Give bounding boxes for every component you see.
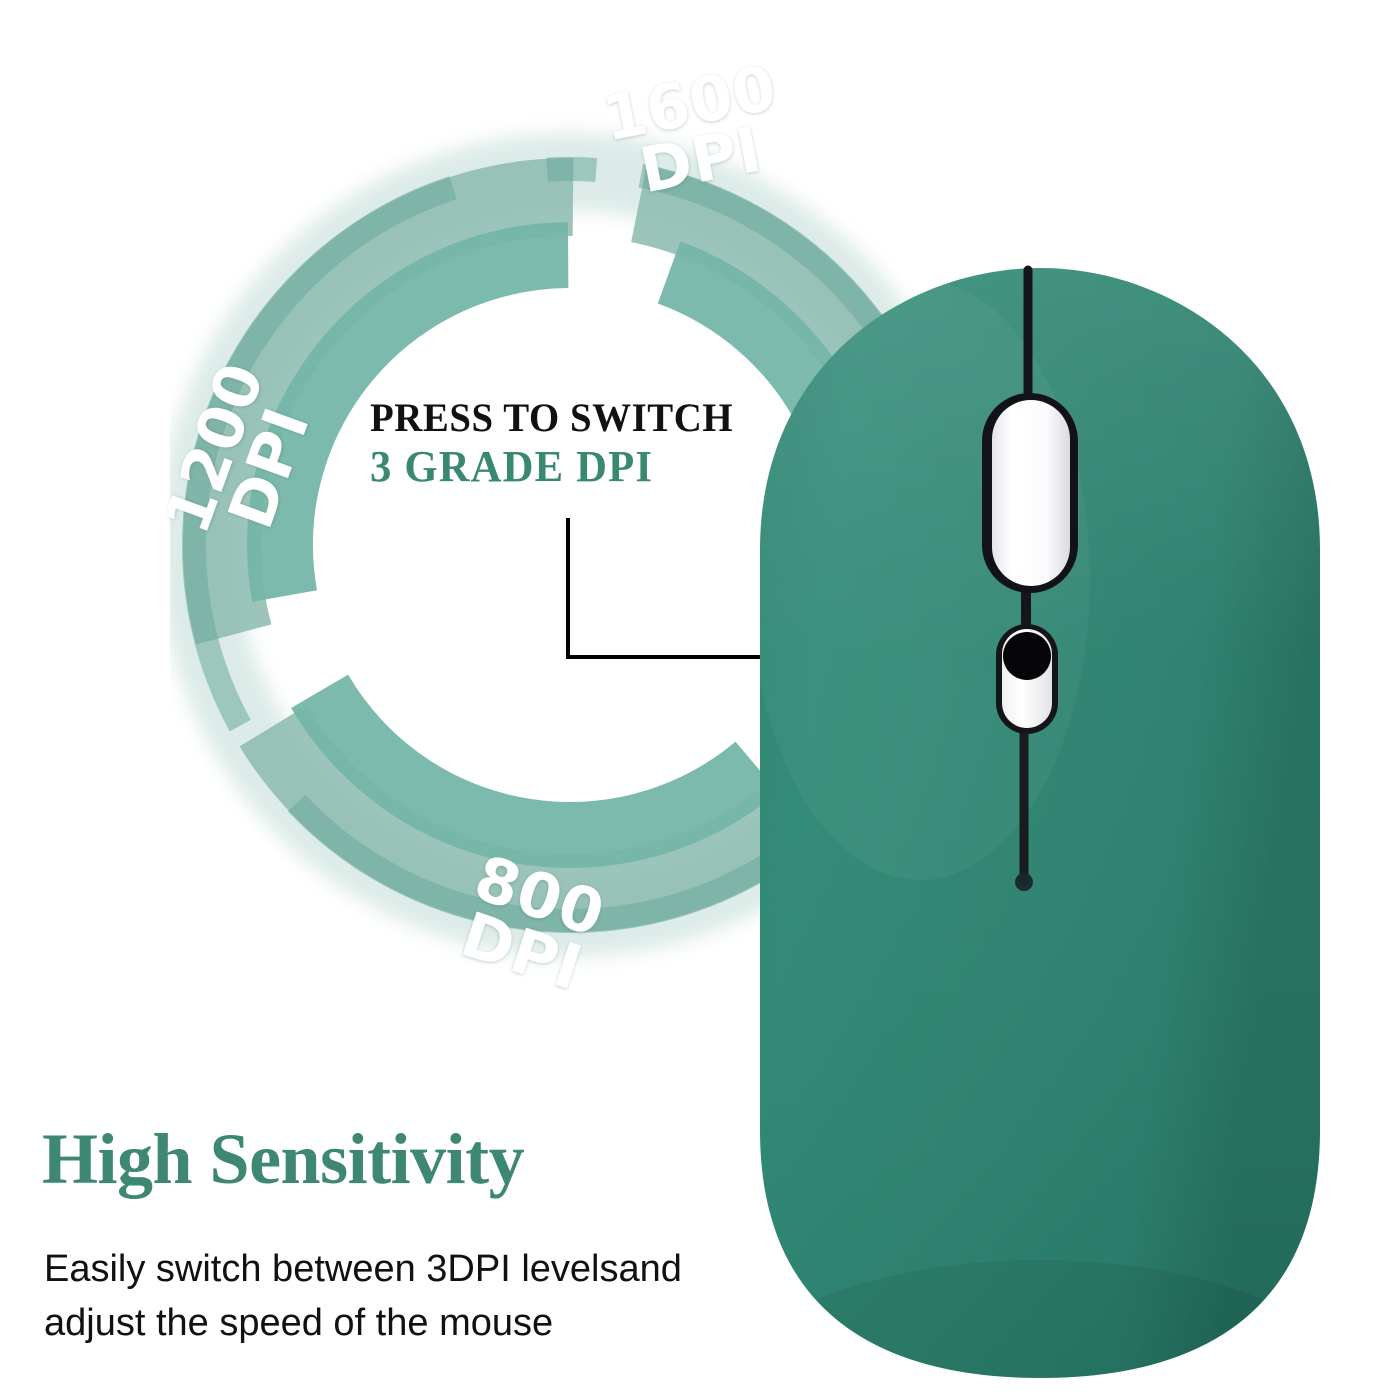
scroll-wheel [982, 393, 1078, 593]
footer-body: Easily switch between 3DPI levelsand adj… [44, 1243, 744, 1351]
dpi-label-1600: 1600 DPI [598, 58, 792, 206]
dial-caption: PRESS TO SWITCH 3 GRADE DPI [370, 398, 770, 489]
footer-body-line1: Easily switch between 3DPI levelsand [44, 1243, 744, 1297]
caption-press-to-switch: PRESS TO SWITCH [370, 398, 758, 438]
wireless-mouse [720, 250, 1360, 1400]
caption-3-grade-dpi: 3 GRADE DPI [370, 445, 758, 489]
dpi-switch-button [996, 624, 1058, 734]
footer-headline: High Sensitivity [42, 1118, 524, 1201]
product-feature-poster: 1600 DPI 1200 DPI 800 DPI PRESS TO SWITC… [0, 0, 1400, 1400]
footer-body-line2: adjust the speed of the mouse [44, 1297, 744, 1351]
